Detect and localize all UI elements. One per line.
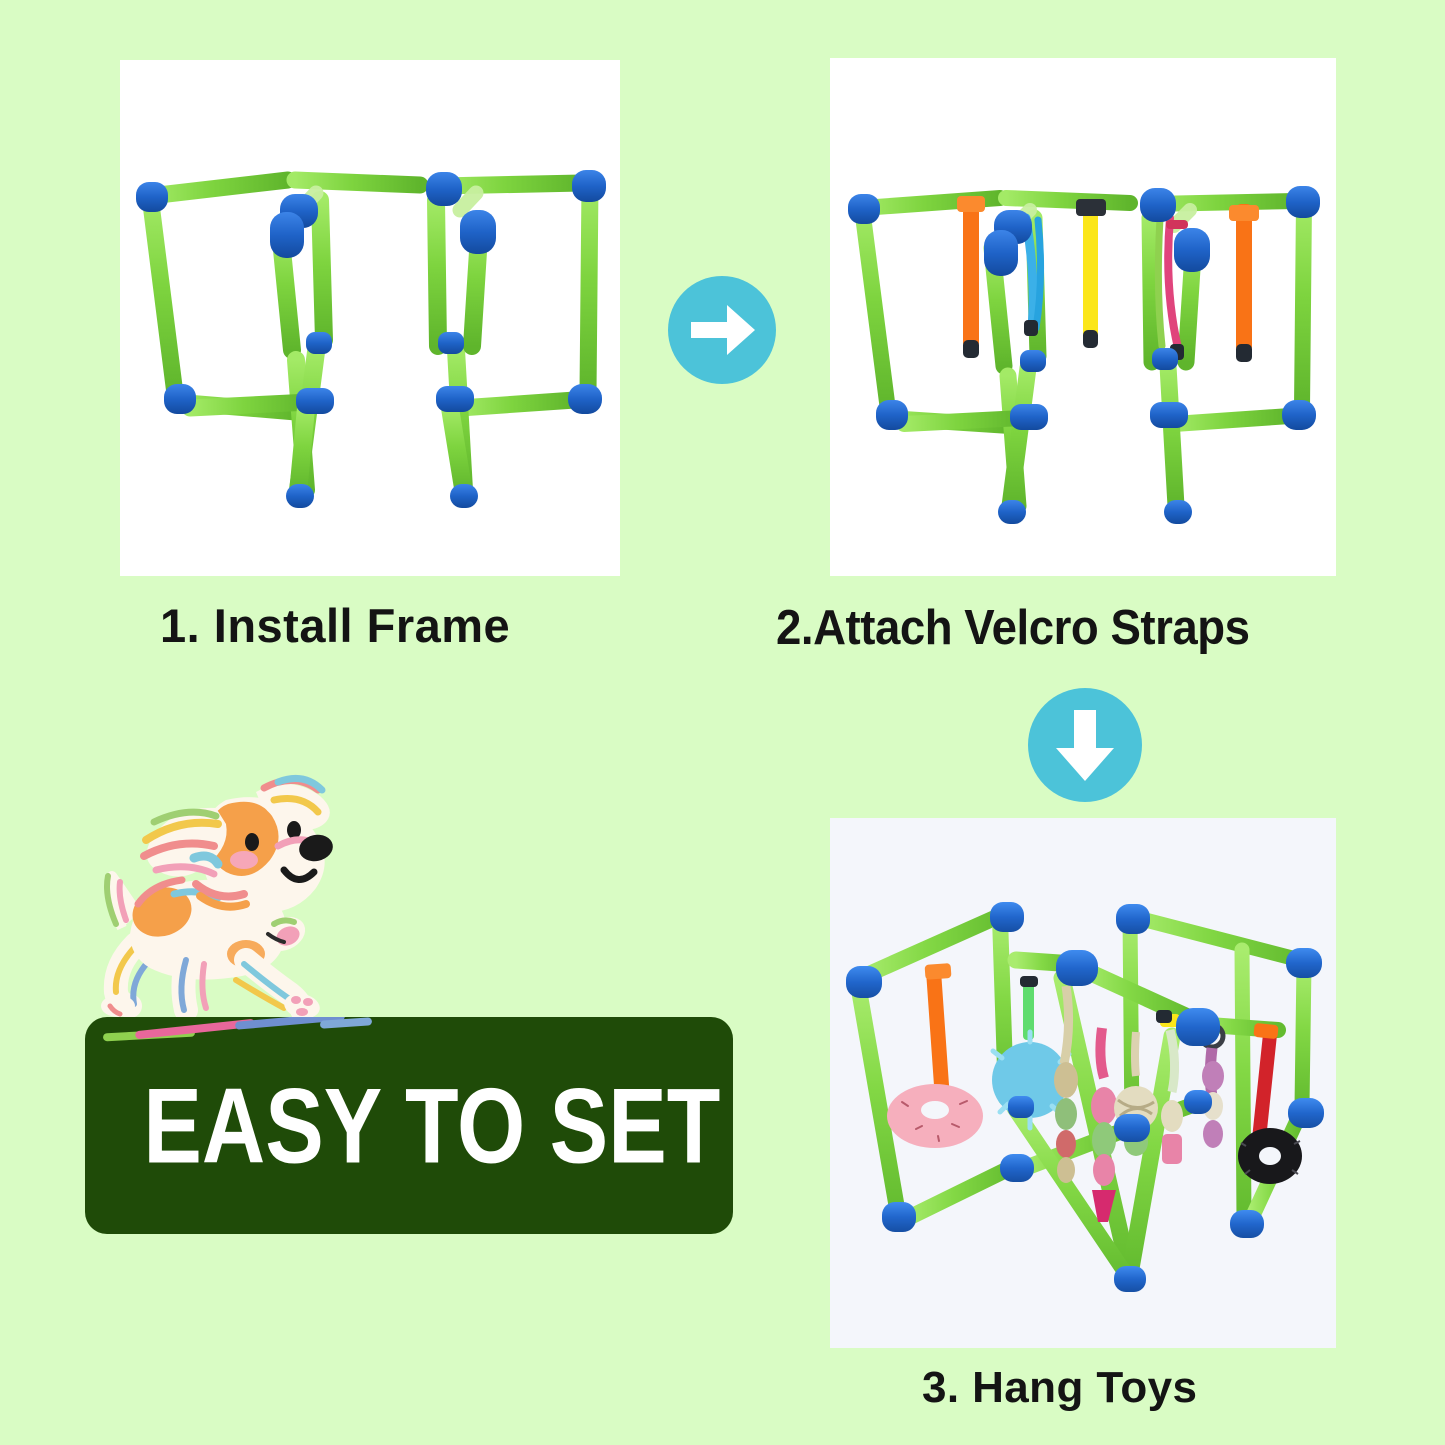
step-3-caption: 3. Hang Toys	[922, 1363, 1197, 1413]
step-2-caption: 2.Attach Velcro Straps	[776, 600, 1250, 656]
step-1-caption: 1. Install Frame	[160, 598, 510, 653]
step-3-photo	[830, 818, 1336, 1348]
banner-text: EASY TO SET UP	[143, 1072, 674, 1179]
infographic-page: 1. Install Frame 2.Attach Velcro Straps …	[0, 0, 1445, 1445]
toys-photo-svg	[830, 818, 1336, 1348]
step-2-photo	[830, 58, 1336, 576]
running-dog-illustration	[78, 748, 358, 1033]
arrow-right-icon	[667, 275, 777, 385]
straps-photo-svg	[830, 58, 1336, 576]
arrow-down-icon	[1026, 686, 1144, 804]
step-1-photo	[120, 60, 620, 576]
frame-photo-svg	[120, 60, 620, 576]
easy-to-set-up-banner: EASY TO SET UP	[85, 1017, 733, 1234]
